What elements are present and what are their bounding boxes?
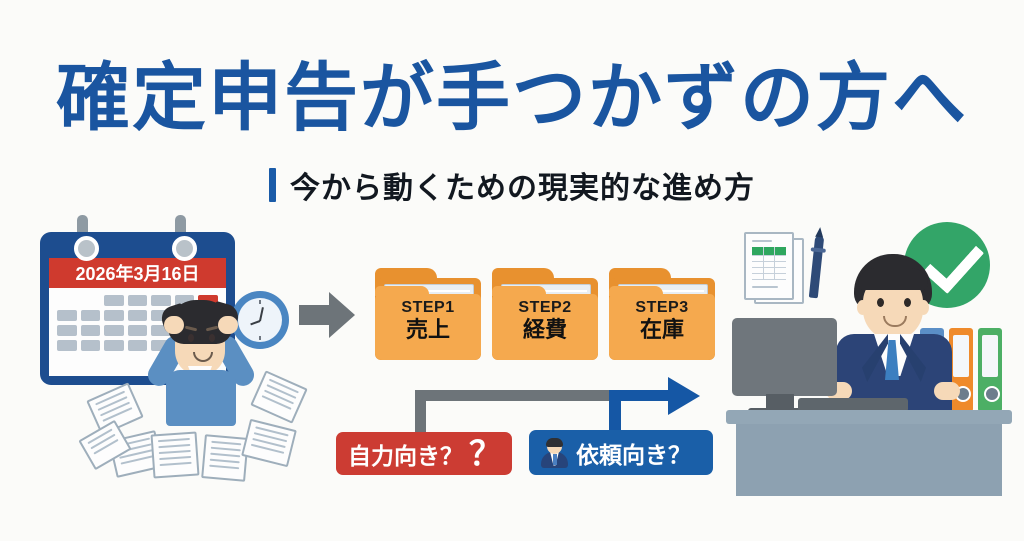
calendar-cell [57,310,77,321]
calendar-date-label: 2026年3月16日 [75,260,199,286]
infographic-canvas: 確定申告が手つかずの方へ 今から動くための現実的な進め方 2026年3月16日 [0,0,1024,541]
calendar-ring-cap [74,236,99,261]
person-hand [218,316,238,334]
monitor-icon [732,318,837,396]
flow-line-gray-vertical [415,390,426,432]
document-text-line [752,286,778,288]
badge-outsource-route[interactable]: 依頼向き？ [529,430,713,475]
document-grid-line [774,247,775,280]
document-sheet-front [744,232,794,300]
document-stack-icon [744,232,804,304]
arrow-right-icon [668,377,700,415]
badge-self-route[interactable]: 自力向き？ ？ [336,432,512,475]
badge-label: 自力向き？ [348,437,463,471]
calendar-cell [57,295,77,306]
document-grid-line [752,261,786,262]
calendar-cell [104,295,124,306]
paper-sheet [151,431,200,478]
badge-label: 依頼向き？ [576,436,691,470]
folder-title-text: 経費 [492,317,598,342]
paper-sheet [241,419,297,467]
person-eye [188,334,194,342]
folder-label: STEP3 在庫 [609,298,715,342]
accountant-at-desk-illustration [726,222,1012,494]
folder-label: STEP1 売上 [375,298,481,342]
avatar-hair [546,438,563,447]
question-mark-icon: ？ [469,442,502,465]
flow-line-gray-horizontal [415,390,615,401]
business-person-avatar-icon [539,438,569,468]
page-title: 確定申告が手つかずの方へ [0,58,1024,138]
document-grid-line [752,273,786,274]
calendar-cell [81,340,101,351]
person-hand [164,316,184,334]
folder-step-text: STEP1 [375,298,481,317]
calendar-cell [57,325,77,336]
folder-step-text: STEP3 [609,298,715,317]
flow-line-blue-vertical [609,390,621,432]
businessman-icon [822,254,968,416]
calendar-date-banner: 2026年3月16日 [49,258,226,288]
person-body [166,370,236,426]
stressed-person-icon [140,300,260,420]
document-table-header [752,247,786,255]
subtitle-row: 今から動くための現実的な進め方 [0,163,1024,207]
calendar-ring-cap [172,236,197,261]
folder-title-text: 売上 [375,317,481,342]
businessman-fringe [858,268,928,290]
binder-label [982,335,998,377]
arrow-head [329,292,355,338]
arrow-right-icon [299,292,355,338]
calendar-cell [81,325,101,336]
calendar-cell [81,310,101,321]
paper-sheet [201,434,249,482]
desk-body [736,424,1002,496]
calendar-cell [57,340,77,351]
businessman-eye [877,298,884,307]
businessman-eye [904,298,911,307]
calendar-cell [104,340,124,351]
avatar-tie [553,454,557,465]
step-folder-3[interactable]: STEP3 在庫 [609,268,715,360]
folder-title-text: 在庫 [609,317,715,342]
page-subtitle: 今から動くための現実的な進め方 [290,163,755,207]
document-grid-line [752,255,786,256]
document-grid-line [752,279,786,280]
subtitle-accent-bar [269,168,276,202]
document-text-line [752,240,772,242]
binder-green [978,328,1002,412]
calendar-cell [104,310,124,321]
step-folder-2[interactable]: STEP2 経費 [492,268,598,360]
calendar-cell [81,295,101,306]
person-eye [209,334,215,342]
step-folder-1[interactable]: STEP1 売上 [375,268,481,360]
document-grid-line [763,247,764,280]
arrow-shaft [299,305,333,325]
document-grid-line [752,267,786,268]
folder-step-text: STEP2 [492,298,598,317]
binder-ring-hole [984,386,1000,402]
businessman-hand [934,382,960,400]
calendar-cell [104,325,124,336]
desk-surface [726,410,1012,424]
folder-label: STEP2 経費 [492,298,598,342]
